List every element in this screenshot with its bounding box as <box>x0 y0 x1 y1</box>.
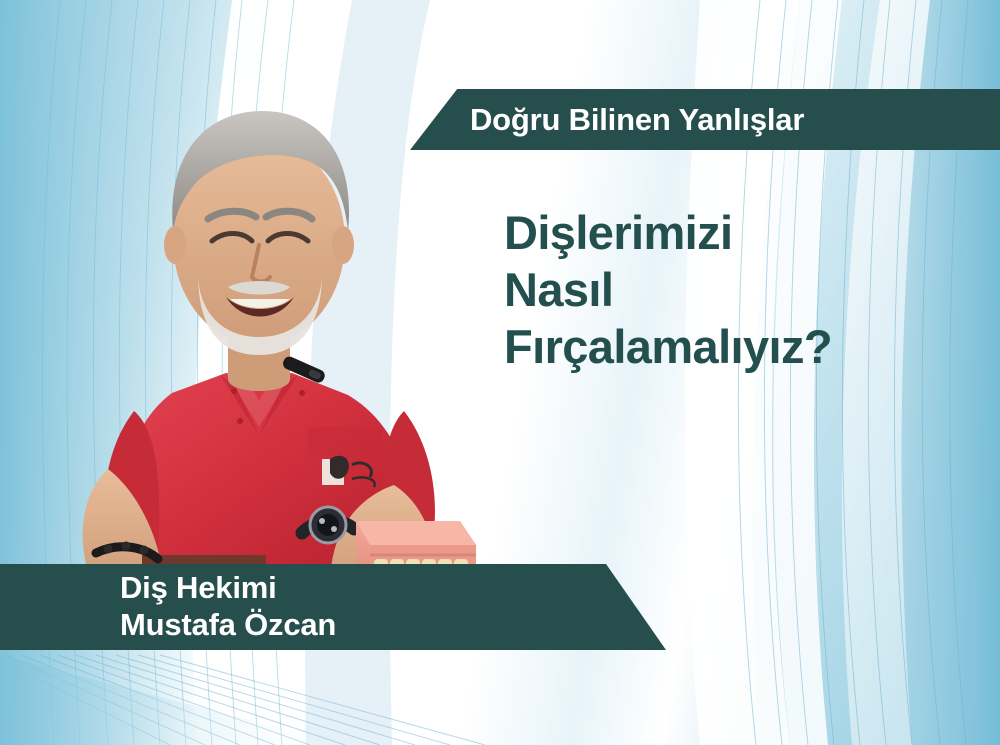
top-banner-label: Doğru Bilinen Yanlışlar <box>470 102 804 138</box>
headline-line-1: Dişlerimizi <box>504 205 954 262</box>
top-banner: Doğru Bilinen Yanlışlar <box>410 89 1000 150</box>
presenter-credit: Diş Hekimi Mustafa Özcan <box>120 569 336 643</box>
headline-line-2: Nasıl <box>504 262 954 319</box>
presenter-title: Diş Hekimi <box>120 569 336 606</box>
presenter-name: Mustafa Özcan <box>120 606 336 643</box>
video-thumbnail: Doğru Bilinen Yanlışlar Dişlerimizi Nası… <box>0 0 1000 745</box>
headline-line-3: Fırçalamalıyız? <box>504 319 954 376</box>
page-title: Dişlerimizi Nasıl Fırçalamalıyız? <box>504 205 954 376</box>
